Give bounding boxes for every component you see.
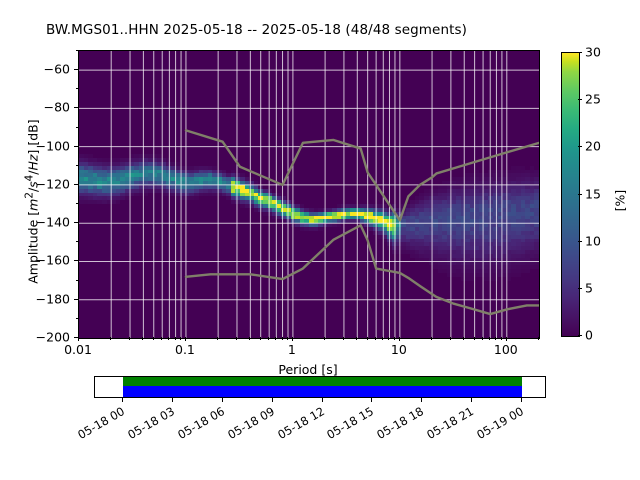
x-minor-tick: [463, 337, 464, 340]
colorbar-tick: [578, 194, 582, 195]
y-minor-tick: [76, 318, 79, 319]
y-minor-tick: [76, 88, 79, 89]
y-tick-mark: [74, 107, 78, 108]
x-minor-tick: [388, 337, 389, 340]
timeline-tick: [122, 398, 123, 402]
colorbar-tick-label: 5: [585, 280, 593, 295]
y-tick-mark: [74, 222, 78, 223]
x-minor-tick: [501, 337, 502, 340]
x-tick-mark: [292, 337, 293, 341]
x-tick-label: 100: [494, 342, 518, 357]
x-minor-tick: [260, 337, 261, 340]
timeline-tick-label: 05-18 15: [321, 404, 376, 444]
colorbar-tick: [578, 335, 582, 336]
x-minor-tick: [282, 337, 283, 340]
y-tick-label: −60: [0, 62, 70, 77]
x-minor-tick: [343, 337, 344, 340]
x-minor-tick: [324, 337, 325, 340]
timeline-tick: [521, 398, 522, 402]
y-tick-mark: [74, 146, 78, 147]
y-minor-tick: [76, 280, 79, 281]
y-axis-title-text: Amplitude [m2/s4/Hz] [dB]: [26, 119, 41, 283]
timeline-data-bar: [123, 377, 522, 386]
timeline-tick: [172, 398, 173, 402]
colorbar-tick-label: 10: [585, 233, 601, 248]
x-minor-tick: [495, 337, 496, 340]
page-title: BW.MGS01..HHN 2025-05-18 -- 2025-05-18 (…: [46, 22, 467, 38]
x-minor-tick: [367, 337, 368, 340]
colorbar[interactable]: [561, 52, 580, 337]
x-minor-tick: [538, 337, 539, 340]
x-tick-mark: [78, 337, 79, 341]
x-tick-mark: [506, 337, 507, 341]
timeline-tick-label: 05-18 12: [271, 404, 326, 444]
x-minor-tick: [382, 337, 383, 340]
colorbar-title: [%]: [613, 141, 628, 261]
x-minor-tick: [161, 337, 162, 340]
timeline-tick-label: 05-18 00: [72, 404, 127, 444]
y-tick-label: −200: [0, 330, 70, 345]
y-tick-mark: [74, 299, 78, 300]
x-minor-tick: [287, 337, 288, 340]
timeline-tick: [371, 398, 372, 402]
x-tick-label: 0.1: [175, 342, 195, 357]
timeline-tick-label: 05-19 00: [471, 404, 526, 444]
x-minor-tick: [236, 337, 237, 340]
y-minor-tick: [76, 241, 79, 242]
x-minor-tick: [356, 337, 357, 340]
ppsd-plot-area[interactable]: [78, 50, 540, 339]
y-minor-tick: [76, 127, 79, 128]
colorbar-tick-label: 30: [585, 45, 601, 60]
colorbar-tick: [578, 241, 582, 242]
timeline-tick-label: 05-18 06: [171, 404, 226, 444]
colorbar-tick-label: 15: [585, 186, 601, 201]
x-minor-tick: [142, 337, 143, 340]
x-tick-mark: [399, 337, 400, 341]
colorbar-tick: [578, 288, 582, 289]
x-tick-mark: [185, 337, 186, 341]
x-minor-tick: [129, 337, 130, 340]
colorbar-tick: [578, 146, 582, 147]
y-tick-mark: [74, 260, 78, 261]
x-minor-tick: [375, 337, 376, 340]
x-axis-title: Period [s]: [278, 362, 337, 377]
timeline-psd-bar: [123, 386, 522, 397]
x-tick-label: 10: [391, 342, 407, 357]
x-minor-tick: [175, 337, 176, 340]
colorbar-tick-label: 25: [585, 92, 601, 107]
colorbar-tick: [578, 99, 582, 100]
x-minor-tick: [450, 337, 451, 340]
y-tick-mark: [74, 184, 78, 185]
timeline-tick: [272, 398, 273, 402]
x-minor-tick: [168, 337, 169, 340]
x-minor-tick: [217, 337, 218, 340]
x-minor-tick: [431, 337, 432, 340]
colorbar-tick-label: 20: [585, 139, 601, 154]
ppsd-figure: BW.MGS01..HHN 2025-05-18 -- 2025-05-18 (…: [0, 0, 640, 480]
timeline-tick-label: 05-18 03: [121, 404, 176, 444]
x-minor-tick: [110, 337, 111, 340]
timeline-tick: [222, 398, 223, 402]
y-axis-title: Amplitude [m2/s4/Hz] [dB]: [23, 82, 40, 322]
x-minor-tick: [394, 337, 395, 340]
x-tick-label: 1: [288, 342, 296, 357]
y-minor-tick: [76, 203, 79, 204]
x-minor-tick: [275, 337, 276, 340]
x-minor-tick: [474, 337, 475, 340]
x-minor-tick: [268, 337, 269, 340]
x-minor-tick: [249, 337, 250, 340]
coverage-timeline[interactable]: [94, 376, 546, 398]
x-minor-tick: [153, 337, 154, 340]
noise-model-curves: [79, 51, 539, 338]
timeline-tick: [322, 398, 323, 402]
timeline-tick-label: 05-18 18: [371, 404, 426, 444]
colorbar-tick-label: 0: [585, 328, 593, 343]
x-minor-tick: [482, 337, 483, 340]
x-minor-tick: [180, 337, 181, 340]
timeline-tick-label: 05-18 21: [421, 404, 476, 444]
timeline-tick: [471, 398, 472, 402]
timeline-tick: [421, 398, 422, 402]
colorbar-tick: [578, 52, 582, 53]
x-tick-label: 0.01: [64, 342, 92, 357]
y-tick-mark: [74, 69, 78, 70]
y-minor-tick: [76, 165, 79, 166]
x-minor-tick: [489, 337, 490, 340]
timeline-tick-label: 05-18 09: [221, 404, 276, 444]
y-minor-tick: [76, 50, 79, 51]
